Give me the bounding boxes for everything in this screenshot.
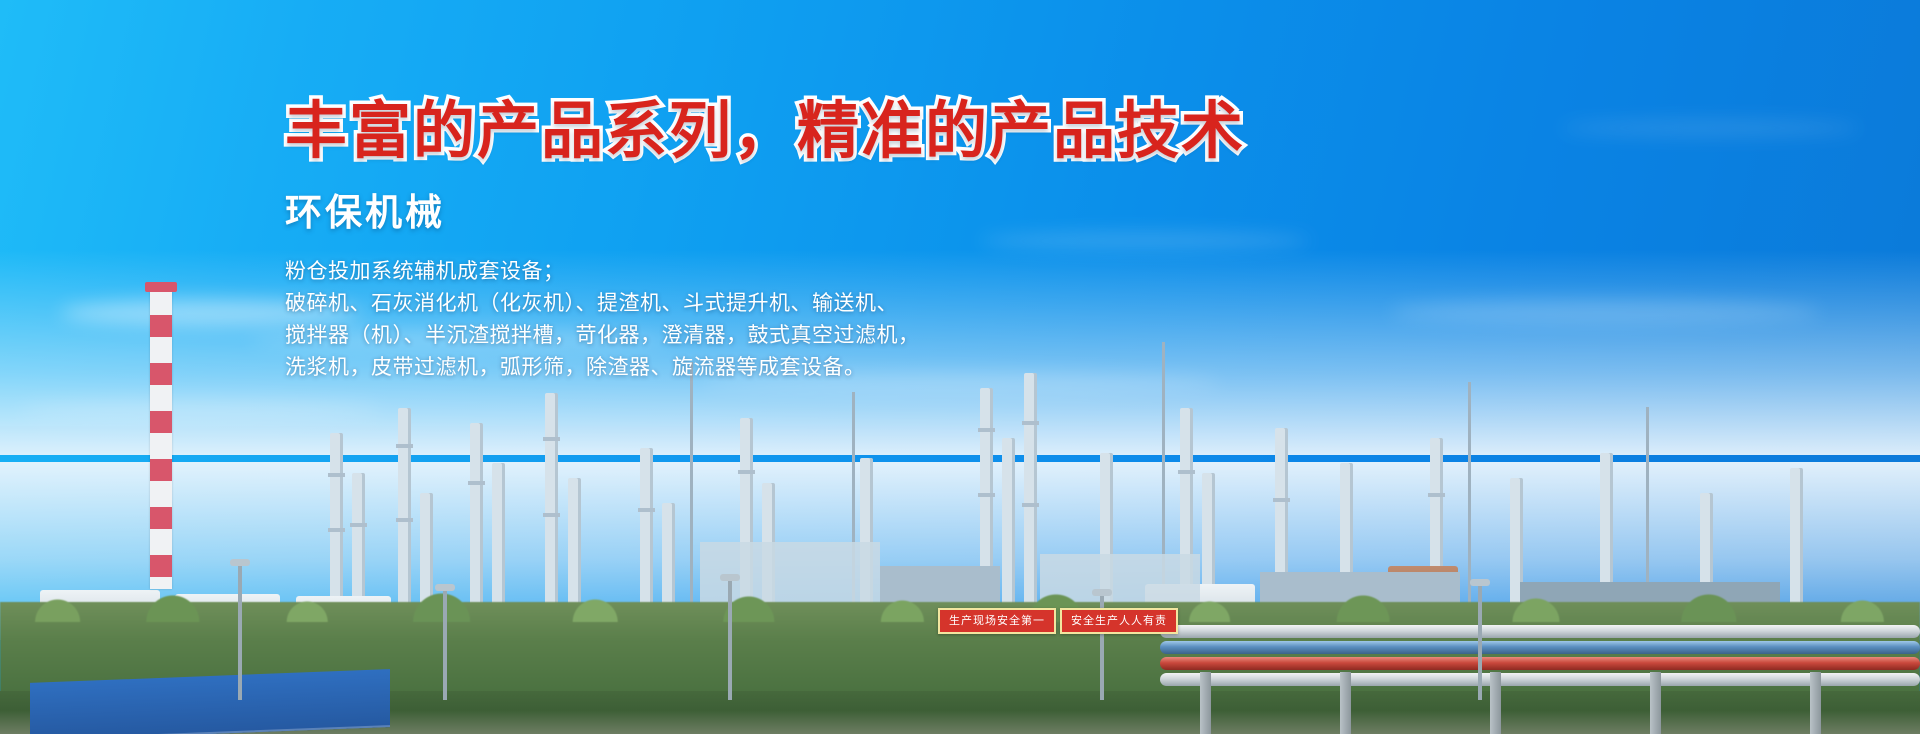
safety-sign: 安全生产人人有责 xyxy=(1060,608,1178,634)
pipe-support xyxy=(1490,672,1501,734)
banner-headline: 丰富的产品系列，精准的产品技术 xyxy=(285,95,1285,168)
description-line: 破碎机、石灰消化机（化灰机）、提渣机、斗式提升机、输送机、 xyxy=(285,288,1285,320)
street-lamp xyxy=(728,580,732,700)
pipe-support xyxy=(1340,672,1351,734)
hero-banner: 生产现场安全第一 安全生产人人有责 丰富的产品系列，精准的产品技术 环保机械 粉… xyxy=(0,0,1920,734)
smokestack-chimney xyxy=(150,289,172,589)
description-line: 粉仓投加系统辅机成套设备； xyxy=(285,256,1285,288)
description-line: 搅拌器（机）、半沉渣搅拌槽，苛化器，澄清器，鼓式真空过滤机， xyxy=(285,320,1285,352)
pipe-support xyxy=(1200,672,1211,734)
street-lamp xyxy=(238,565,242,700)
banner-description: 粉仓投加系统辅机成套设备； 破碎机、石灰消化机（化灰机）、提渣机、斗式提升机、输… xyxy=(285,256,1285,384)
street-lamp xyxy=(1478,585,1482,700)
banner-text-block: 丰富的产品系列，精准的产品技术 环保机械 粉仓投加系统辅机成套设备； 破碎机、石… xyxy=(285,95,1285,384)
pipe xyxy=(1160,625,1920,638)
pipe xyxy=(1160,657,1920,670)
pipe-support xyxy=(1810,672,1821,734)
pipe-rack xyxy=(1160,584,1920,734)
safety-sign: 生产现场安全第一 xyxy=(938,608,1056,634)
pipe xyxy=(1160,641,1920,654)
pipe xyxy=(1160,673,1920,686)
street-lamp xyxy=(443,590,447,700)
pipe-support xyxy=(1650,672,1661,734)
description-line: 洗浆机，皮带过滤机，弧形筛，除渣器、旋流器等成套设备。 xyxy=(285,352,1285,384)
banner-subtitle: 环保机械 xyxy=(285,182,1285,236)
cloud xyxy=(1560,120,1860,136)
distillation-column xyxy=(1024,373,1037,623)
